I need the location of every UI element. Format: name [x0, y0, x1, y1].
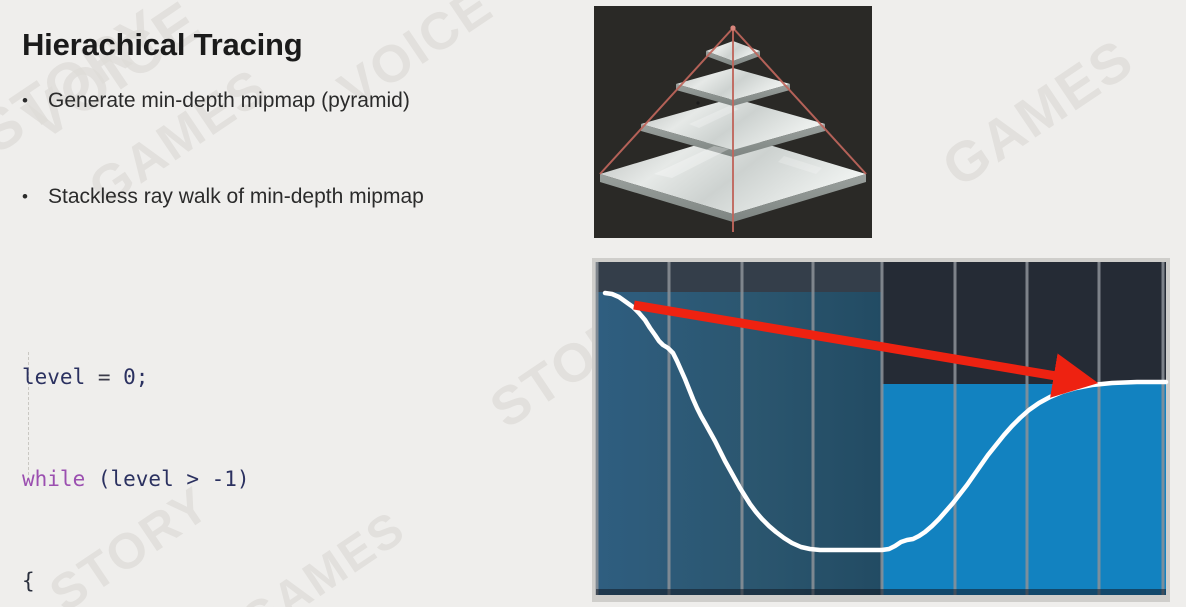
code-token-level: level: [22, 365, 85, 389]
bullet-text: Generate min-depth mipmap (pyramid): [48, 88, 410, 114]
left-content-column: Hierachical Tracing • Generate min-depth…: [0, 0, 594, 607]
bullet-marker-icon: •: [22, 184, 48, 210]
code-token-while-cond: (level > -1): [85, 467, 249, 491]
hiz-trace-figure: [592, 258, 1170, 602]
region-coarse-empty: [596, 262, 882, 292]
region-fine-empty: [882, 262, 1166, 384]
code-token-while: while: [22, 467, 85, 491]
bullet-item-stackless-walk: • Stackless ray walk of min-depth mipmap: [22, 184, 424, 210]
hiz-trace-svg: [592, 258, 1170, 602]
code-line-3: {: [22, 564, 414, 598]
figure-bottom-edge: [596, 589, 1166, 595]
pyramid-svg: [594, 6, 872, 238]
surface-marker-dot: [696, 101, 699, 104]
mipmap-pyramid-figure: [594, 6, 872, 238]
code-line-1: level = 0;: [22, 360, 414, 394]
code-token-assign: =: [85, 365, 123, 389]
code-token-brace-open: {: [22, 569, 35, 593]
ray-origin-point: [730, 25, 735, 30]
page-title: Hierachical Tracing: [22, 27, 303, 63]
bullet-item-generate-mipmap: • Generate min-depth mipmap (pyramid): [22, 88, 410, 114]
bullet-text: Stackless ray walk of min-depth mipmap: [48, 184, 424, 210]
code-line-2: while (level > -1): [22, 462, 414, 496]
code-token-zero: 0;: [123, 365, 148, 389]
bullet-marker-icon: •: [22, 88, 48, 114]
code-block: level = 0; while (level > -1) { stepCurr…: [22, 292, 414, 607]
slide-canvas: STORY GAMES VOICE STORY GAMES STORY GAME…: [0, 0, 1186, 607]
watermark-games-right: GAMES: [930, 25, 1145, 199]
